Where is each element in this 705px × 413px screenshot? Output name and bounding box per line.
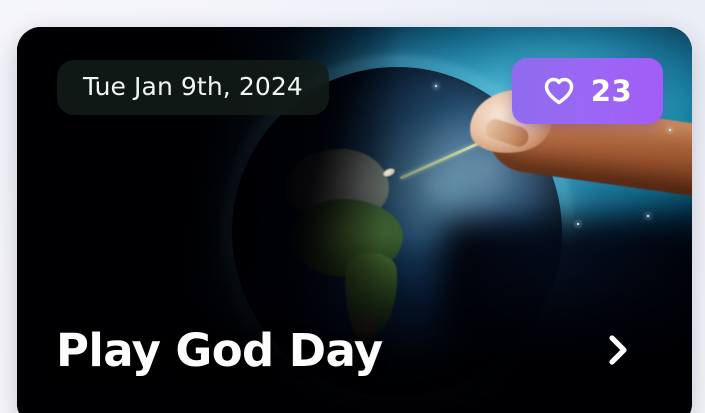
page-root: Tue Jan 9th, 2024 23 Play God Day [0, 0, 705, 413]
holiday-card[interactable]: Tue Jan 9th, 2024 23 Play God Day [17, 27, 692, 413]
date-badge: Tue Jan 9th, 2024 [57, 60, 329, 115]
chevron-right-icon [605, 333, 631, 367]
date-badge-label: Tue Jan 9th, 2024 [83, 74, 303, 99]
card-footer: Play God Day [17, 307, 692, 413]
next-button[interactable] [592, 324, 644, 376]
like-count-label: 23 [591, 77, 632, 106]
heart-icon [543, 76, 575, 106]
card-title: Play God Day [56, 328, 383, 373]
like-button[interactable]: 23 [512, 58, 663, 124]
